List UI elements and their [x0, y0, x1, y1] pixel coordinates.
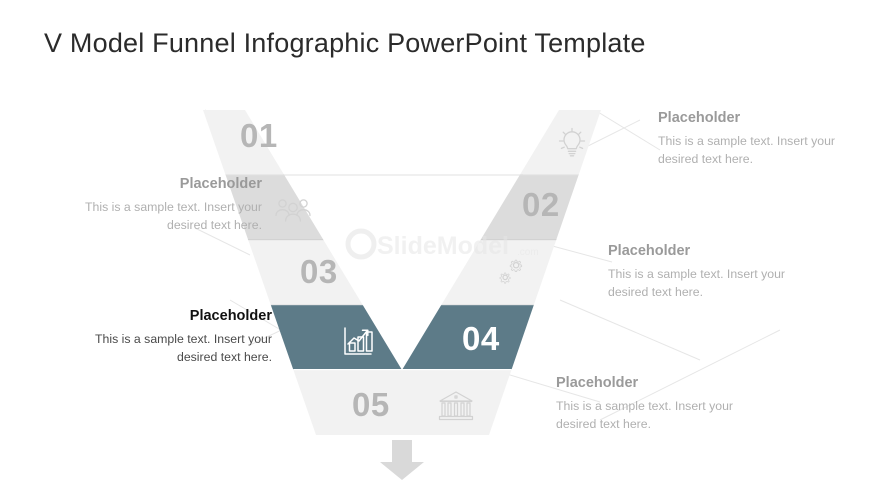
down-arrow-icon — [380, 440, 424, 480]
callout-title: Placeholder — [52, 176, 262, 193]
step-number-01: 01 — [240, 119, 278, 152]
callout-body: This is a sample text. Insert your desir… — [608, 266, 818, 302]
step-number-05: 05 — [352, 388, 390, 421]
callout-step-1[interactable]: Placeholder This is a sample text. Inser… — [658, 110, 868, 169]
callout-title: Placeholder — [556, 375, 766, 392]
callout-step-3[interactable]: Placeholder This is a sample text. Inser… — [608, 243, 818, 302]
callout-title: Placeholder — [62, 308, 272, 325]
callout-title: Placeholder — [608, 243, 818, 260]
callout-step-5[interactable]: Placeholder This is a sample text. Inser… — [556, 375, 766, 434]
callout-body: This is a sample text. Insert your desir… — [658, 133, 868, 169]
step-number-03: 03 — [300, 255, 338, 288]
callout-body: This is a sample text. Insert your desir… — [62, 331, 272, 367]
lightbulb-icon — [552, 123, 592, 163]
callout-body: This is a sample text. Insert your desir… — [556, 398, 766, 434]
slide-canvas: V Model Funnel Infographic PowerPoint Te… — [0, 0, 870, 489]
callout-body: This is a sample text. Insert your desir… — [52, 199, 262, 235]
bank-institution-icon — [436, 386, 476, 426]
bar-chart-growth-icon — [338, 322, 378, 362]
people-group-icon — [273, 190, 313, 230]
step-number-04: 04 — [462, 322, 500, 355]
callout-title: Placeholder — [658, 110, 868, 127]
step-number-02: 02 — [522, 188, 560, 221]
gears-icon — [493, 254, 533, 294]
callout-step-2[interactable]: Placeholder This is a sample text. Inser… — [52, 176, 262, 235]
callout-step-4[interactable]: Placeholder This is a sample text. Inser… — [62, 308, 272, 367]
